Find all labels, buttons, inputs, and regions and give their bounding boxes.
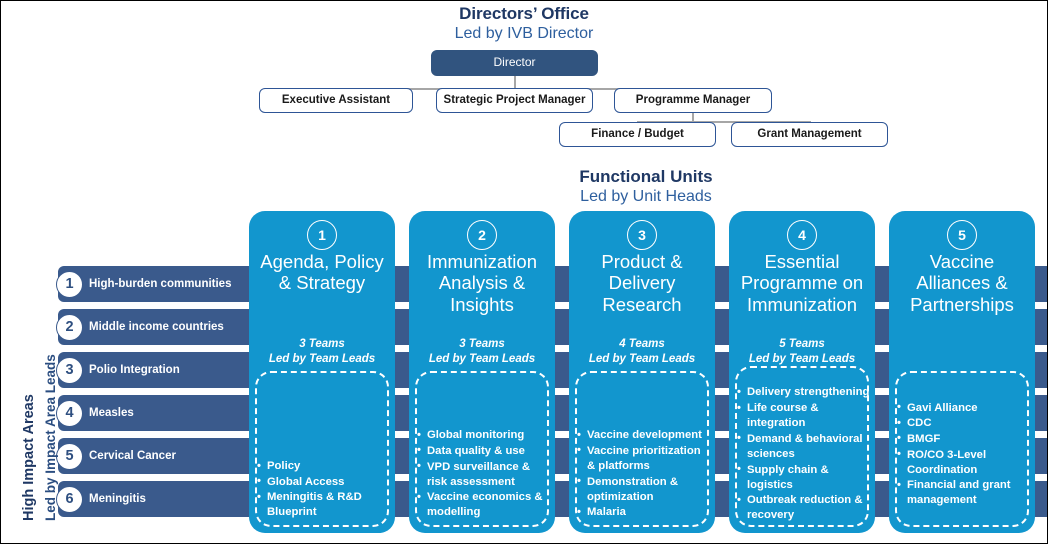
unit-item-list-1: Policy Global Access Meningitis & R&D Bl…: [256, 459, 391, 521]
list-item: Financial and grant management: [896, 478, 1031, 508]
impact-number-1: 1: [56, 271, 83, 298]
list-item: Gavi Alliance: [896, 401, 1031, 416]
unit-name-1: Agenda, Policy & Strategy: [255, 251, 389, 294]
impact-number-6: 6: [56, 486, 83, 513]
impact-axis-subtitle: Led by Impact Area Leads: [43, 354, 58, 521]
impact-number-2: 2: [56, 314, 83, 341]
functional-unit-column-3[interactable]: 3 Product & Delivery Research 4 Teams Le…: [569, 211, 715, 533]
impact-axis-title: High Impact Areas: [21, 394, 37, 521]
unit-teams-3: 4 Teams Led by Team Leads: [573, 337, 711, 366]
list-item: Vaccine development: [576, 428, 711, 443]
list-item: Meningitis & R&D Blueprint: [256, 490, 391, 520]
list-item: Policy: [256, 459, 391, 474]
impact-label-2: Middle income countries: [89, 321, 244, 333]
unit-number-badge-1: 1: [307, 220, 337, 250]
unit-teams-2: 3 Teams Led by Team Leads: [413, 337, 551, 366]
list-item: BMGF: [896, 432, 1031, 447]
unit-teams-ledby-4: Led by Team Leads: [733, 352, 871, 367]
unit-teams-ledby-1: Led by Team Leads: [253, 352, 391, 367]
functional-unit-column-4[interactable]: 4 Essential Programme on Immunization 5 …: [729, 211, 875, 533]
impact-label-6: Meningitis: [89, 493, 244, 505]
functional-unit-column-5[interactable]: 5 Vaccine Alliances & Partnerships Gavi …: [889, 211, 1035, 533]
functional-unit-column-1[interactable]: 1 Agenda, Policy & Strategy 3 Teams Led …: [249, 211, 395, 533]
list-item: VPD surveillance & risk assessment: [416, 460, 551, 490]
list-item: Data quality & use: [416, 444, 551, 459]
unit-teams-1: 3 Teams Led by Team Leads: [253, 337, 391, 366]
unit-item-list-3: Vaccine development Vaccine prioritizati…: [576, 428, 711, 521]
unit-name-2: Immunization Analysis & Insights: [415, 251, 549, 315]
impact-label-3: Polio Integration: [89, 364, 244, 376]
unit-name-3: Product & Delivery Research: [575, 251, 709, 315]
unit-item-list-4: Delivery strengthening Life course & int…: [736, 385, 871, 524]
list-item: Global monitoring: [416, 428, 551, 443]
list-item: RO/CO 3-Level Coordination: [896, 448, 1031, 478]
unit-number-badge-3: 3: [627, 220, 657, 250]
unit-number-badge-5: 5: [947, 220, 977, 250]
list-item: Life course & integration: [736, 401, 871, 431]
unit-teams-count-2: 3 Teams: [413, 337, 551, 352]
unit-name-4: Essential Programme on Immunization: [735, 251, 869, 315]
unit-item-list-5: Gavi Alliance CDC BMGF RO/CO 3-Level Coo…: [896, 401, 1031, 509]
unit-teams-4: 5 Teams Led by Team Leads: [733, 337, 871, 366]
impact-label-1: High-burden communities: [89, 278, 244, 290]
unit-teams-ledby-3: Led by Team Leads: [573, 352, 711, 367]
unit-teams-count-4: 5 Teams: [733, 337, 871, 352]
unit-name-5: Vaccine Alliances & Partnerships: [895, 251, 1029, 315]
impact-number-4: 4: [56, 400, 83, 427]
unit-item-list-2: Global monitoring Data quality & use VPD…: [416, 428, 551, 521]
org-chart-canvas: Directors’ Office Led by IVB Director Di…: [0, 0, 1048, 544]
unit-teams-count-3: 4 Teams: [573, 337, 711, 352]
impact-label-4: Measles: [89, 407, 244, 419]
unit-number-badge-4: 4: [787, 220, 817, 250]
list-item: Malaria: [576, 505, 711, 520]
list-item: Vaccine prioritization & platforms: [576, 444, 711, 474]
functional-unit-column-2[interactable]: 2 Immunization Analysis & Insights 3 Tea…: [409, 211, 555, 533]
unit-number-badge-2: 2: [467, 220, 497, 250]
list-item: Global Access: [256, 475, 391, 490]
impact-label-5: Cervical Cancer: [89, 450, 244, 462]
unit-teams-ledby-2: Led by Team Leads: [413, 352, 551, 367]
list-item: CDC: [896, 416, 1031, 431]
impact-number-5: 5: [56, 443, 83, 470]
list-item: Demand & behavioral sciences: [736, 432, 871, 462]
list-item: Supply chain & logistics: [736, 463, 871, 493]
impact-axis-labels: High Impact Areas Led by Impact Area Lea…: [3, 259, 51, 529]
list-item: Vaccine economics & modelling: [416, 490, 551, 520]
list-item: Outbreak reduction & recovery: [736, 493, 871, 523]
list-item: Delivery strengthening: [736, 385, 871, 400]
unit-teams-count-1: 3 Teams: [253, 337, 391, 352]
impact-number-3: 3: [56, 357, 83, 384]
list-item: Demonstration & optimization: [576, 475, 711, 505]
